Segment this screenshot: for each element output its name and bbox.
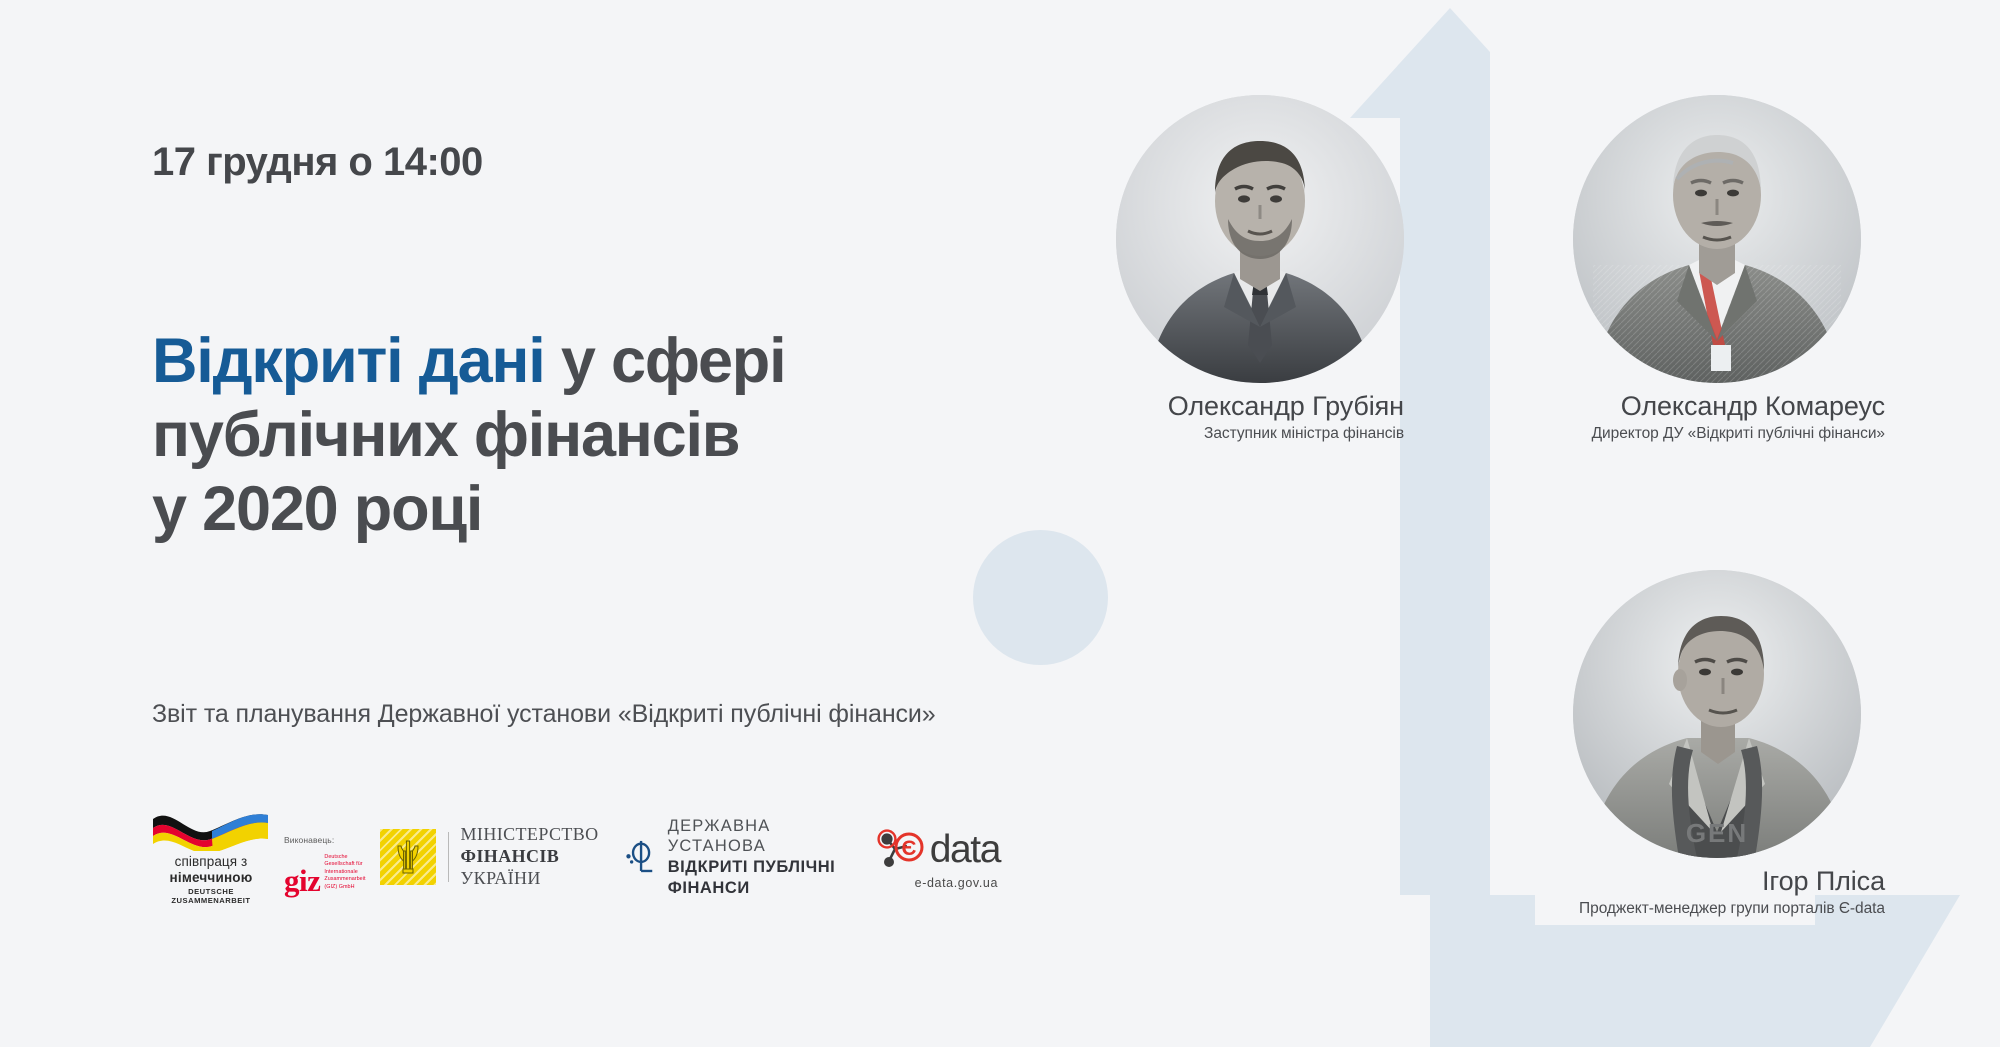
speaker-role: Директор ДУ «Відкриті публічні фінанси»	[1525, 425, 1885, 443]
avatar	[1573, 95, 1861, 383]
speaker-role: Проджект-менеджер групи порталів Є-data	[1525, 900, 1885, 918]
speakers-group: Олександр Грубіян Заступник міністра фін…	[0, 0, 2000, 1047]
svg-text:GEN: GEN	[1686, 818, 1748, 848]
portrait-man-suit-tie-icon	[1116, 95, 1404, 383]
webinar-announcement-poster: 17 грудня о 14:00 Відкриті дані у сфері …	[0, 0, 2000, 1047]
portrait-man-jacket-backpack-icon: GEN	[1573, 570, 1861, 858]
speaker-name: Олександр Комареус	[1525, 391, 1885, 422]
portrait-man-gray-hair-blazer-icon	[1573, 95, 1861, 383]
speaker-card: Олександр Комареус Директор ДУ «Відкриті…	[1525, 95, 1885, 443]
speaker-card: GEN Ігор Пліс	[1525, 570, 1885, 918]
speaker-card: Олександр Грубіян Заступник міністра фін…	[1104, 95, 1404, 443]
avatar: GEN	[1573, 570, 1861, 858]
speaker-name: Олександр Грубіян	[1104, 391, 1404, 422]
speaker-role: Заступник міністра фінансів	[1104, 425, 1404, 443]
speaker-name: Ігор Пліса	[1525, 866, 1885, 897]
avatar	[1116, 95, 1404, 383]
